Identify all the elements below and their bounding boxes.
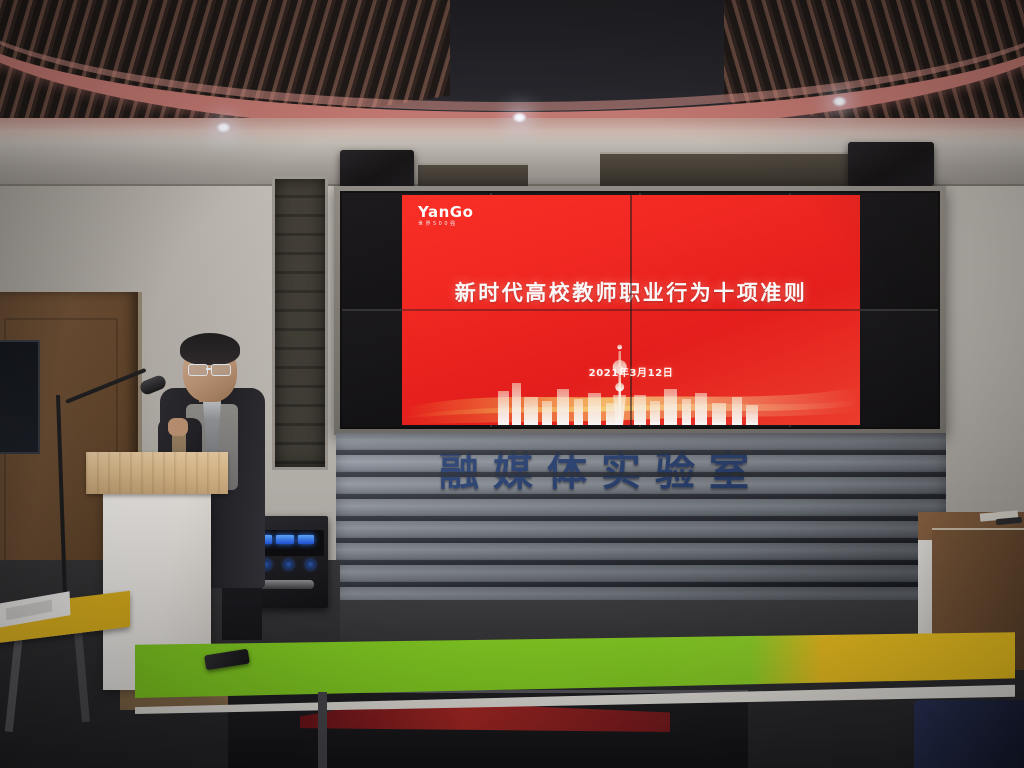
glasses-bridge — [206, 368, 212, 370]
logo-wordmark: YanGo — [418, 205, 473, 220]
slat-wall-shading — [336, 433, 946, 621]
front-table-leg — [318, 692, 327, 768]
overhead-cabinet-right — [600, 152, 850, 189]
amplifier-led-2 — [276, 535, 294, 544]
louvered-wall-panel — [272, 176, 328, 470]
glasses-left-lens — [188, 364, 208, 376]
presenter-hair — [180, 333, 240, 365]
logo-subtext: 世界500强 — [418, 222, 473, 227]
photo-scene: YanGo 世界500强 新时代高校教师职业行为十项准则 — [0, 0, 1024, 768]
soffit-light-glow — [0, 118, 1024, 142]
amplifier-knob-3[interactable] — [306, 560, 315, 569]
presentation-slide: YanGo 世界500强 新时代高校教师职业行为十项准则 — [402, 195, 860, 425]
yango-logo: YanGo 世界500强 — [418, 205, 473, 227]
wall-monitor-left — [0, 340, 40, 454]
downlight-1 — [216, 122, 231, 133]
chair-bottom-right — [914, 700, 1024, 768]
downlight-3 — [832, 96, 847, 107]
downlight-2 — [512, 112, 527, 123]
loudspeaker-right — [848, 142, 934, 186]
loudspeaker-left — [340, 150, 414, 190]
presenter-hand — [168, 418, 188, 436]
podium-wood-grain — [86, 452, 228, 494]
amplifier-knob-2[interactable] — [284, 560, 293, 569]
amplifier-led-3 — [298, 535, 314, 544]
slide-date: 2021年3月12日 — [402, 364, 860, 379]
slide-seam-horizontal — [402, 309, 860, 311]
glasses-right-lens — [211, 364, 231, 376]
